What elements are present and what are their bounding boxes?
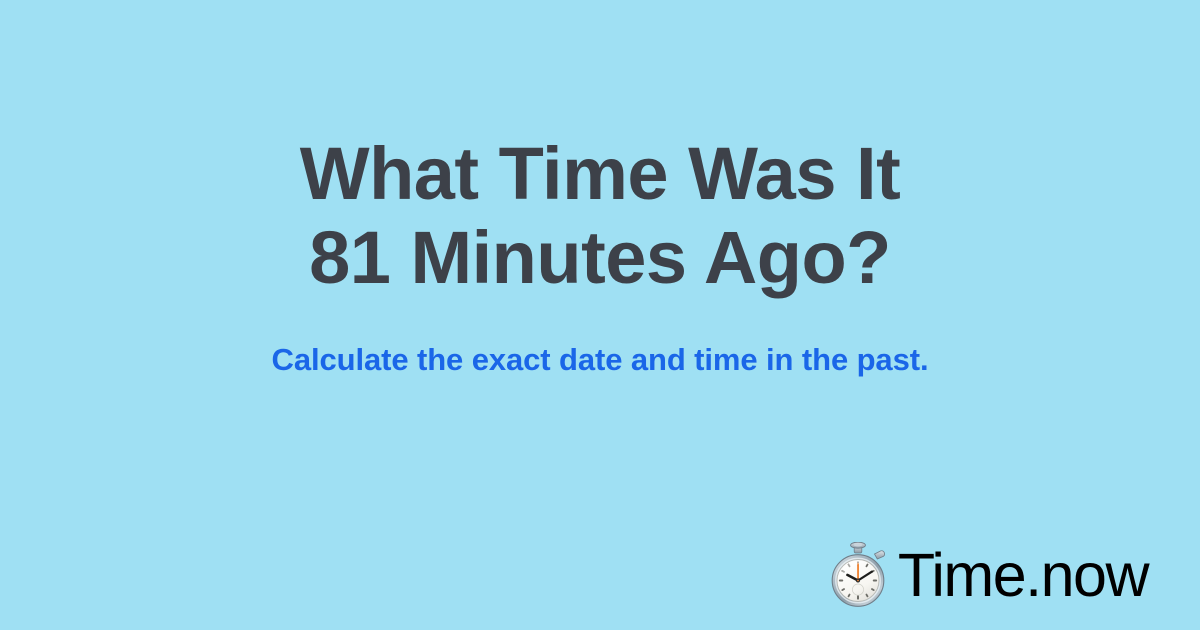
brand-name-label: Time.now (898, 544, 1148, 606)
stopwatch-icon (827, 542, 889, 608)
page-title: What Time Was It 81 Minutes Ago? (0, 132, 1200, 300)
brand-logo: Time.now (827, 542, 1148, 608)
page-title-line-2: 81 Minutes Ago? (0, 216, 1200, 300)
page-subtitle: Calculate the exact date and time in the… (0, 340, 1200, 380)
open-graph-card: What Time Was It 81 Minutes Ago? Calcula… (0, 0, 1200, 630)
page-title-line-1: What Time Was It (0, 132, 1200, 216)
